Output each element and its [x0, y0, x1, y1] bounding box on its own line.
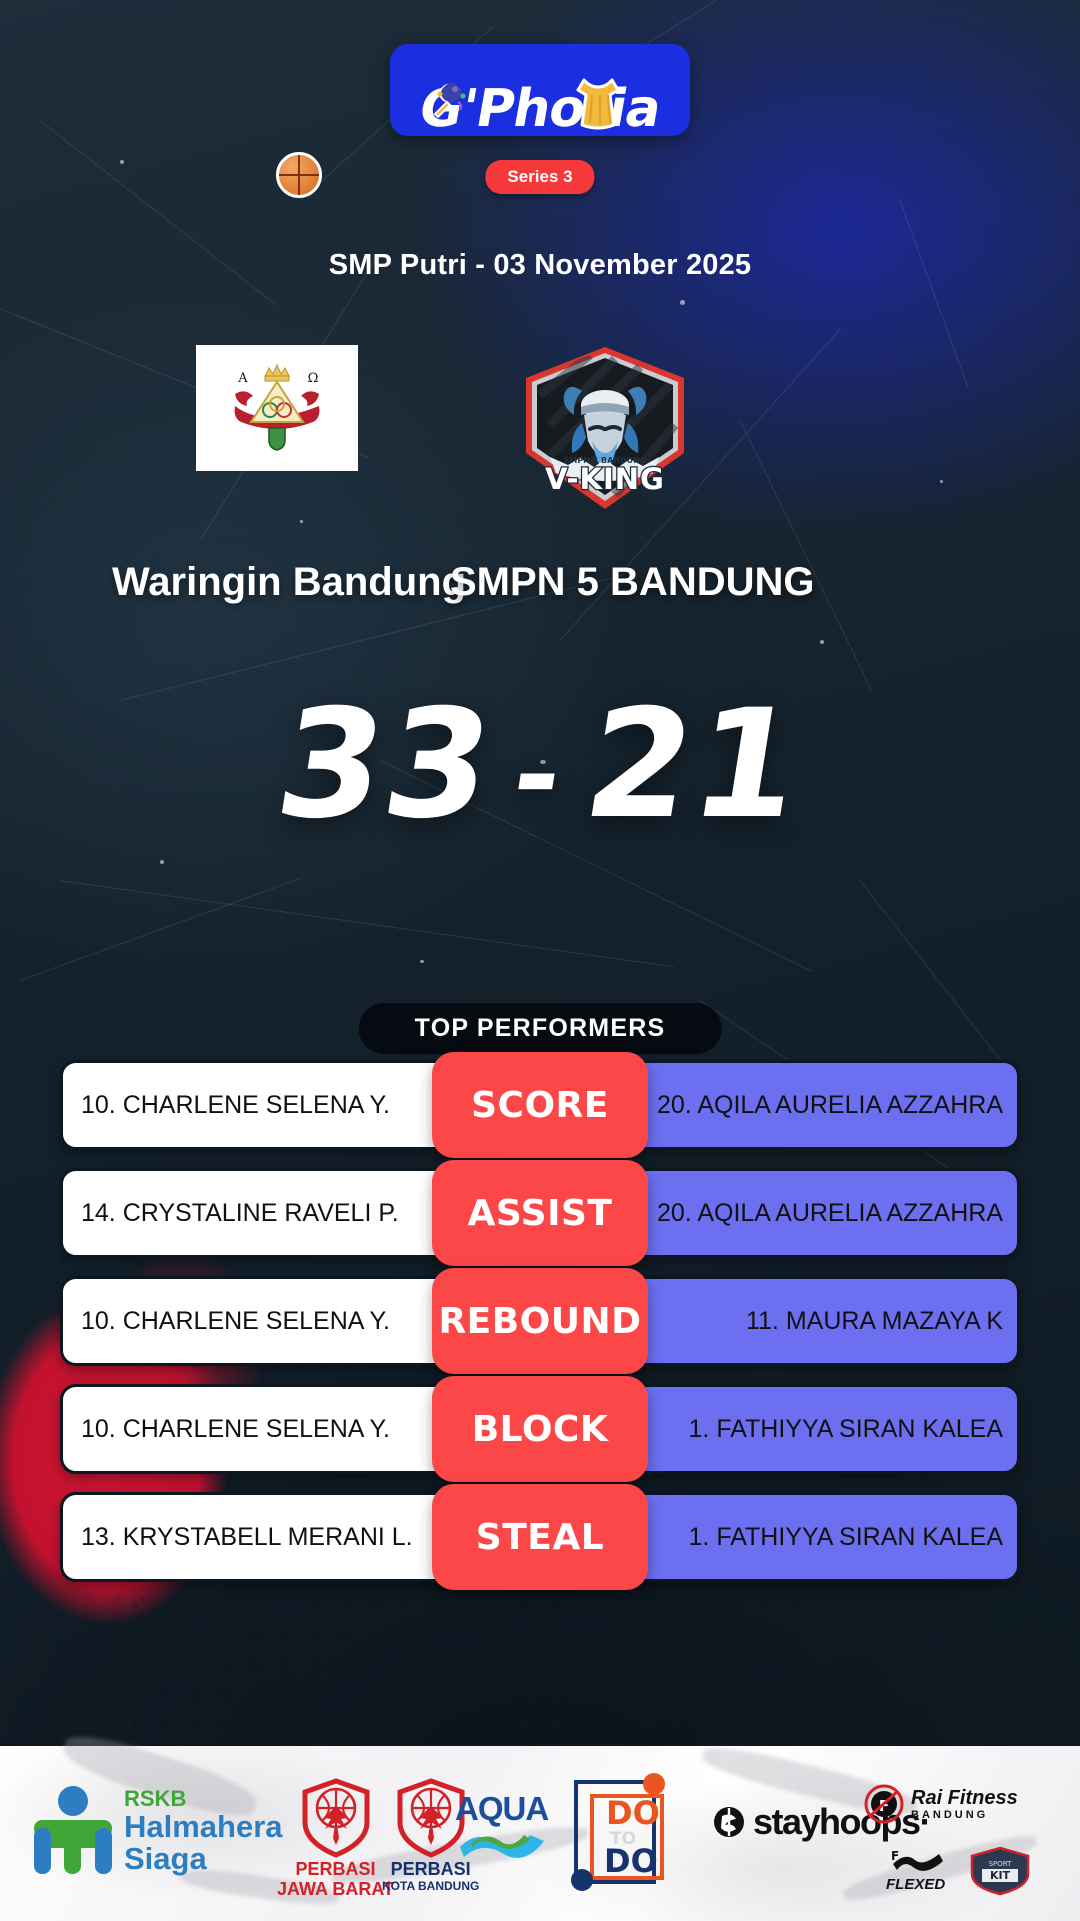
home-team-name: Waringin Bandung: [112, 560, 466, 605]
stat-label: REBOUND: [432, 1268, 648, 1374]
sponsor-line-3: Siaga: [124, 1843, 283, 1874]
aqua-wave-icon: [456, 1825, 548, 1859]
dotodo-logo-icon: DO TO DO: [562, 1768, 674, 1898]
waringin-bandung-crest: PROVIDENTIA A Ω: [217, 360, 337, 456]
team-names-row: Waringin Bandung SMPN 5 BANDUNG: [0, 560, 1080, 610]
svg-text:SPORT: SPORT: [989, 1860, 1013, 1868]
sponsor-line-2: KOTA BANDUNG: [382, 1880, 479, 1892]
stat-label: SCORE: [432, 1052, 648, 1158]
cheer-skirt-icon: [570, 74, 626, 136]
event-logo: G'Phoria Series 3: [0, 44, 1080, 174]
sponsor-flexed: F FLEXED: [886, 1846, 945, 1892]
sponsor-rai-fitness: F Rai Fitness BANDUNG: [864, 1784, 1018, 1824]
sponsor-aqua: AQUA: [455, 1792, 548, 1859]
top-performer-row: 10. CHARLENE SELENA Y. BLOCK 1. FATHIYYA…: [60, 1384, 1020, 1474]
rai-fitness-mark-icon: F: [864, 1784, 904, 1824]
v-king-shield: SMPN 5 BANDUNG V-KING: [520, 345, 690, 511]
svg-text:DO: DO: [604, 1842, 658, 1880]
flexed-mark-icon: F: [887, 1846, 945, 1876]
rskb-figure-icon: [30, 1784, 116, 1878]
series-badge: Series 3: [485, 160, 594, 194]
sponsor-line-1: AQUA: [455, 1792, 548, 1825]
home-team-logo: PROVIDENTIA A Ω: [196, 345, 358, 471]
top-performer-row: 10. CHARLENE SELENA Y. SCORE 20. AQILA A…: [60, 1060, 1020, 1150]
svg-text:A: A: [237, 371, 248, 386]
top-performers-header: TOP PERFORMERS: [359, 1003, 722, 1054]
team-logos-row: PROVIDENTIA A Ω: [0, 345, 1080, 525]
svg-text:F: F: [891, 1849, 899, 1863]
sponsor-footer: RSKB Halmahera Siaga PERBASI JAWA BARAT: [0, 1743, 1080, 1921]
svg-text:DO: DO: [606, 1794, 660, 1832]
sponsor-dotodo: DO TO DO: [562, 1768, 674, 1898]
top-performer-row: 13. KRYSTABELL MERANI L. STEAL 1. FATHIY…: [60, 1492, 1020, 1582]
sponsor-line-1: FLEXED: [886, 1877, 945, 1892]
stat-label: ASSIST: [432, 1160, 648, 1266]
top-performer-row: 10. CHARLENE SELENA Y. REBOUND 11. MAURA…: [60, 1276, 1020, 1366]
away-team-logo: SMPN 5 BANDUNG V-KING: [520, 345, 690, 511]
away-score: 21: [574, 678, 814, 852]
svg-text:Ω: Ω: [308, 371, 319, 386]
sponsor-line-1: PERBASI: [277, 1860, 394, 1878]
sponsor-line-2: BANDUNG: [911, 1810, 1018, 1821]
match-subtitle: SMP Putri - 03 November 2025: [0, 249, 1080, 282]
background-stage: [0, 0, 1080, 1921]
sponsor-line-2: Halmahera: [124, 1811, 283, 1842]
stayhoops-mark-icon: [712, 1805, 746, 1839]
home-score: 33: [266, 678, 506, 852]
sponsor-rskb-halmahera-siaga: RSKB Halmahera Siaga: [30, 1784, 283, 1878]
svg-text:KIT: KIT: [990, 1869, 1011, 1882]
sponsor-perbasi-jawa-barat: PERBASI JAWA BARAT: [277, 1778, 394, 1898]
final-score: 33-21: [0, 690, 1080, 840]
top-performers-list: 10. CHARLENE SELENA Y. SCORE 20. AQILA A…: [60, 1060, 1020, 1600]
pom-pom-icon: [425, 80, 469, 126]
stat-label: STEAL: [432, 1484, 648, 1590]
svg-text:V-KING: V-KING: [545, 462, 665, 496]
sportkit-shield-icon: SPORT KIT: [968, 1846, 1032, 1896]
basketball-icon: [276, 152, 322, 198]
sponsor-line-1: Rai Fitness: [911, 1788, 1018, 1808]
top-performer-row: 14. CRYSTALINE RAVELI P. ASSIST 20. AQIL…: [60, 1168, 1020, 1258]
perbasi-eagle-shield-icon: [300, 1778, 372, 1858]
away-team-name: SMPN 5 BANDUNG: [450, 560, 814, 605]
sponsor-line-1: RSKB: [124, 1788, 283, 1810]
sponsor-sportkit: SPORT KIT: [968, 1846, 1032, 1896]
stat-label: BLOCK: [432, 1376, 648, 1482]
sponsor-line-1: PERBASI: [382, 1860, 479, 1878]
sponsor-line-2: JAWA BARAT: [277, 1880, 394, 1898]
